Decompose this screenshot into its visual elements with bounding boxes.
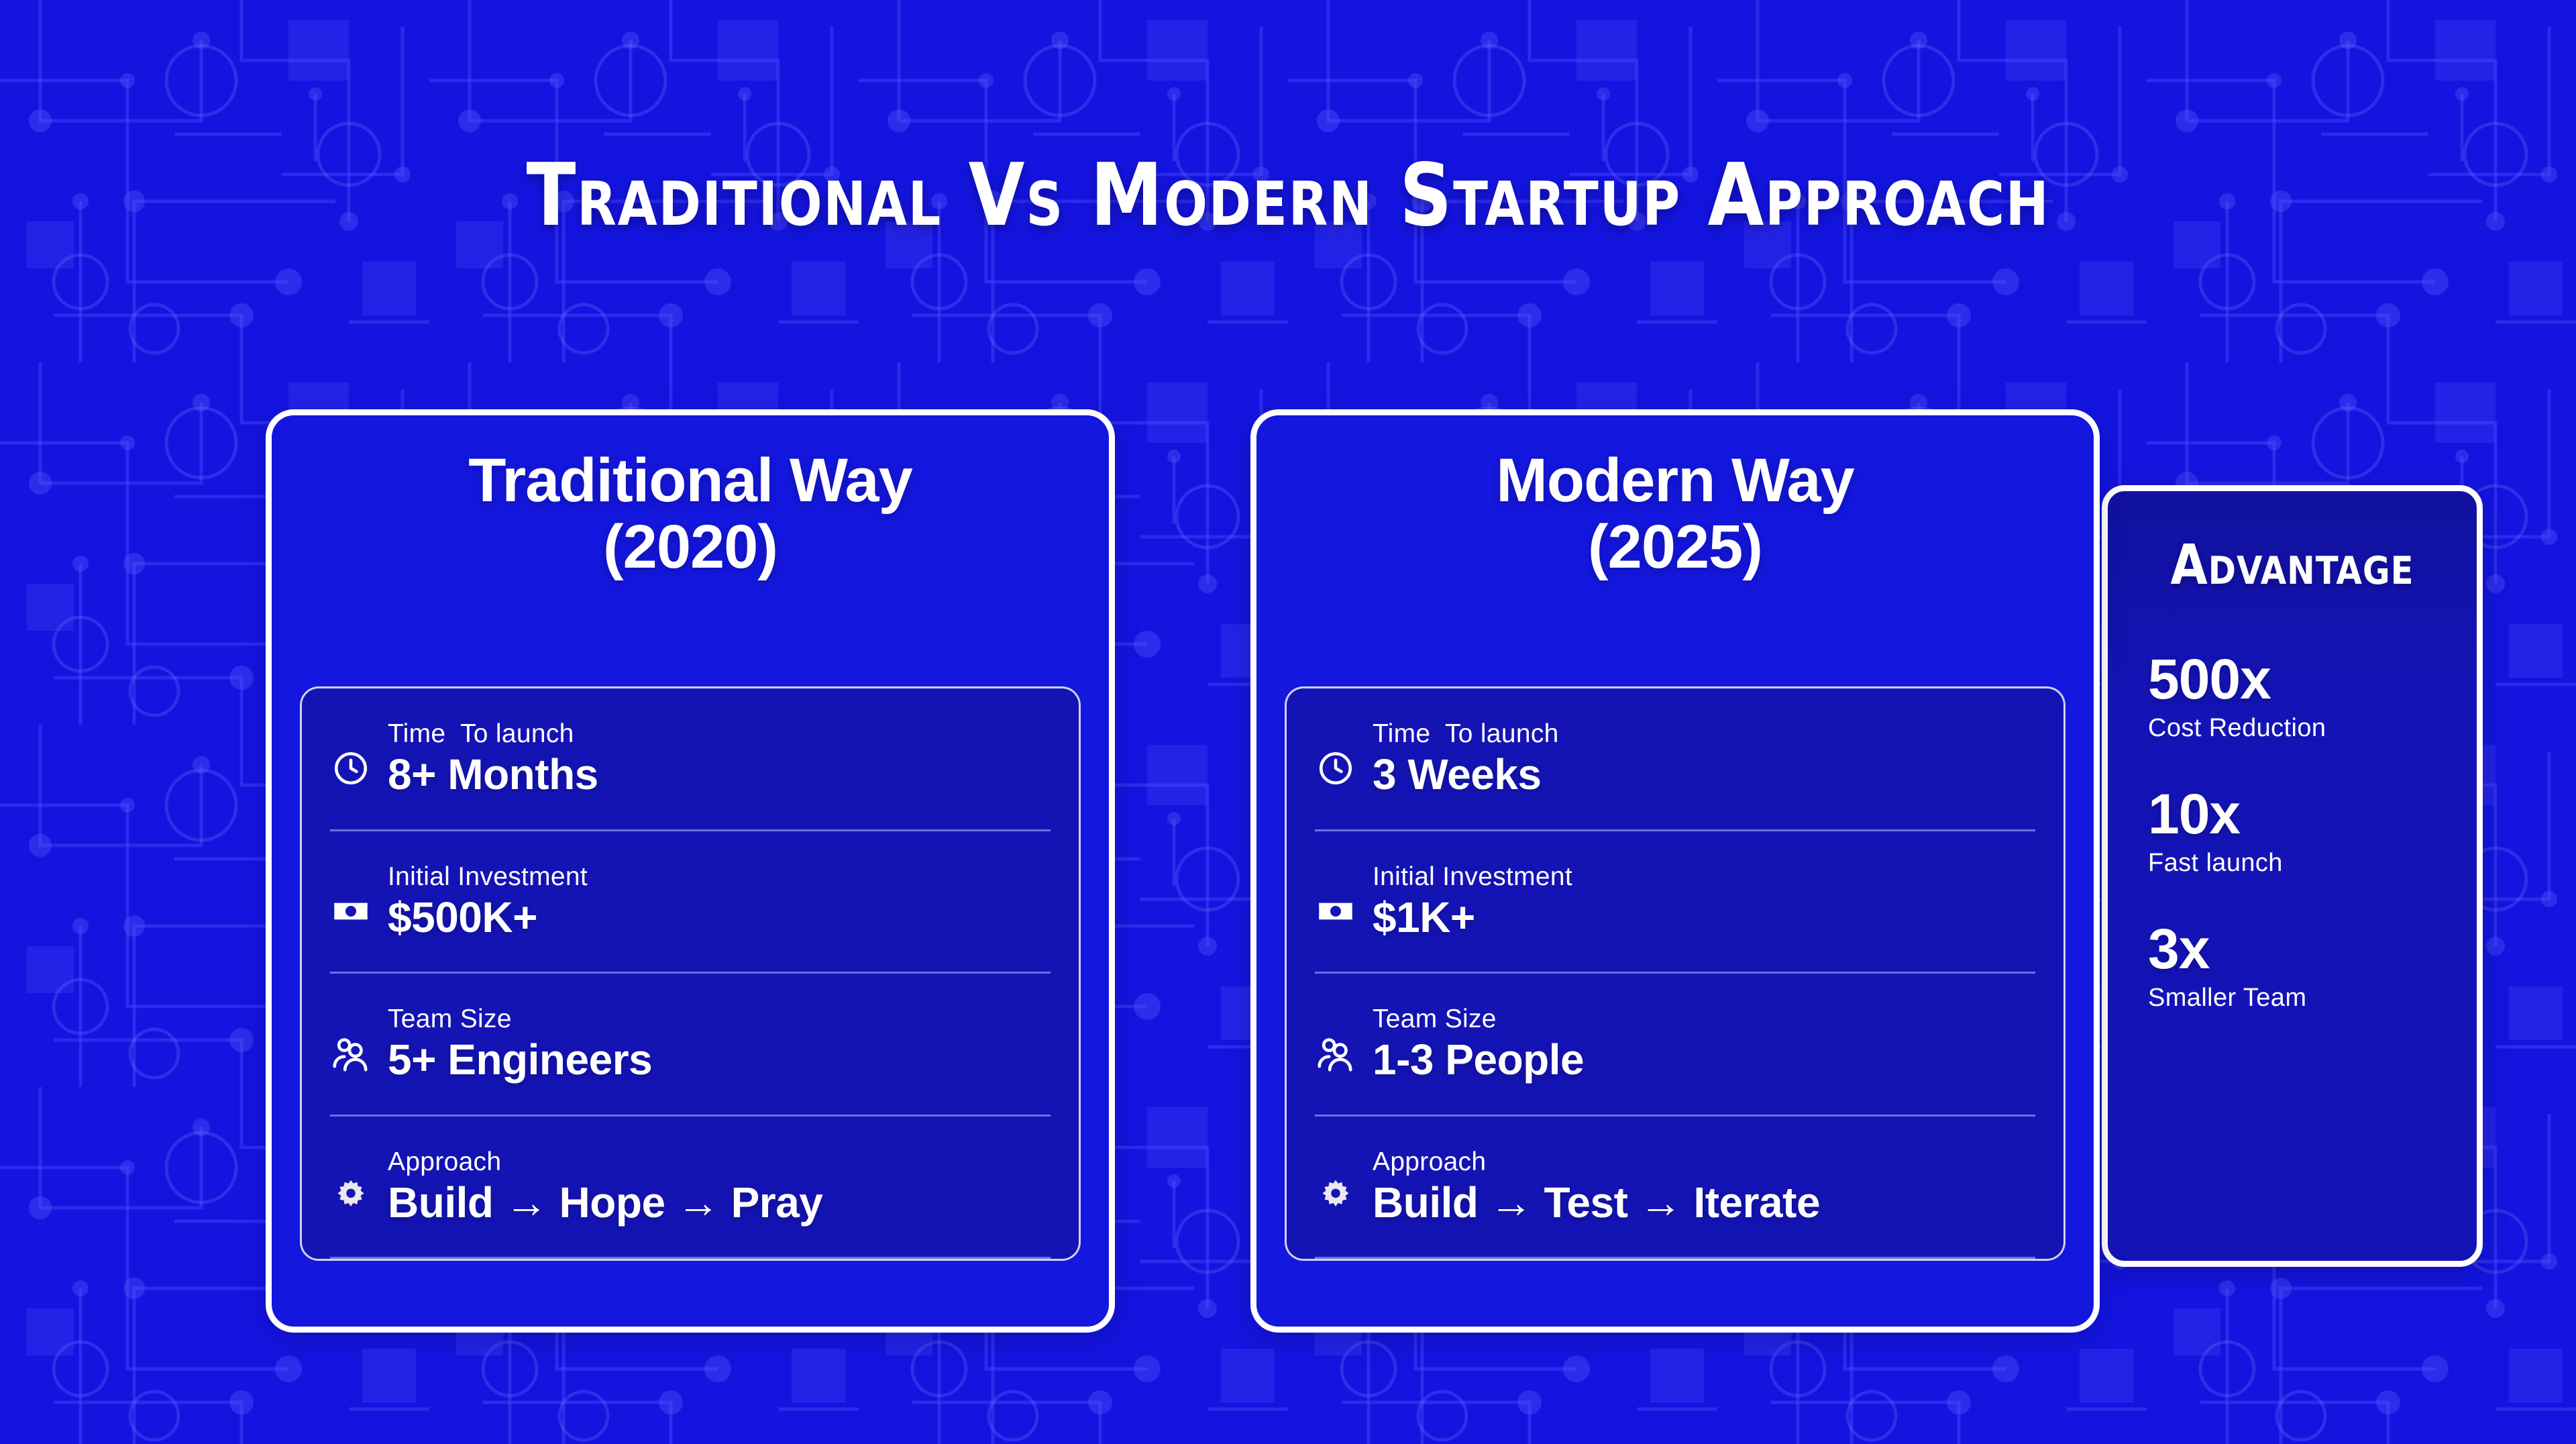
modern-metrics-panel: Time To launch 3 Weeks Initial Investmen… [1285,686,2065,1261]
banknote-icon [1311,886,1360,936]
metric-value: 3 Weeks [1373,750,1559,800]
metric-text: Initial Investment $1K+ [1373,862,1572,943]
metric-text: Team Size 5+ Engineers [388,1004,652,1085]
traditional-way-card: Traditional Way (2020) Time To launch 8+… [266,409,1115,1333]
people-icon [1311,1029,1360,1078]
advantage-item: 500x Cost Reduction [2148,651,2477,743]
modern-heading-year: (2025) [1256,514,2094,580]
metric-label: Approach [388,1147,822,1177]
traditional-heading-text: Traditional Way [468,446,912,515]
metric-label: Initial Investment [388,862,588,892]
advantage-caption: Smaller Team [2148,984,2477,1013]
metric-row-team: Team Size 1-3 People [1305,974,2045,1117]
traditional-heading-year: (2020) [272,514,1109,580]
advantage-number: 500x [2148,651,2477,707]
advantage-title: Advantage [2113,518,2471,593]
traditional-card-heading: Traditional Way (2020) [272,415,1109,581]
metric-label: Team Size [1373,1004,1584,1034]
metric-text: Team Size 1-3 People [1373,1004,1584,1085]
clock-icon [1311,743,1360,793]
metric-row-investment: Initial Investment $1K+ [1305,831,2045,974]
metric-text: Approach Build → Test → Iterate [1373,1147,1820,1228]
metric-row-time: Time To launch 8+ Months [321,688,1060,831]
metric-text: Time To launch 3 Weeks [1373,719,1559,800]
advantage-caption: Cost Reduction [2148,714,2477,743]
infographic-canvas: Traditional Vs Modern Startup Approach A… [0,0,2576,1444]
metric-row-time: Time To launch 3 Weeks [1305,688,2045,831]
metric-value: 1-3 People [1373,1035,1584,1085]
modern-heading-text: Modern Way [1496,446,1854,515]
advantage-item: 10x Fast launch [2148,786,2477,878]
metric-value: Build → Hope → Pray [388,1178,822,1228]
traditional-metrics-panel: Time To launch 8+ Months Initial Investm… [300,686,1081,1261]
metric-row-approach: Approach Build → Hope → Pray [321,1117,1060,1259]
metric-text: Initial Investment $500K+ [388,862,588,943]
metric-value: $1K+ [1373,893,1572,943]
metric-value: 8+ Months [388,750,598,800]
metric-text: Approach Build → Hope → Pray [388,1147,822,1228]
modern-card-heading: Modern Way (2025) [1256,415,2094,581]
metric-label: Time To launch [1373,719,1559,749]
metric-value: $500K+ [388,893,588,943]
advantage-caption: Fast launch [2148,849,2477,878]
metric-row-team: Team Size 5+ Engineers [321,974,1060,1117]
advantage-list: 500x Cost Reduction 10x Fast launch 3x S… [2108,651,2477,1013]
advantage-item: 3x Smaller Team [2148,921,2477,1013]
advantage-panel: Advantage 500x Cost Reduction 10x Fast l… [2102,485,2483,1267]
page-title: Traditional Vs Modern Startup Approach [77,153,2499,239]
people-icon [326,1029,376,1078]
gear-icon [1311,1172,1360,1221]
gear-icon [326,1172,376,1221]
metric-label: Approach [1373,1147,1820,1177]
advantage-number: 3x [2148,921,2477,977]
metric-label: Initial Investment [1373,862,1572,892]
metric-label: Team Size [388,1004,652,1034]
metric-row-approach: Approach Build → Test → Iterate [1305,1117,2045,1259]
advantage-number: 10x [2148,786,2477,842]
banknote-icon [326,886,376,936]
metric-text: Time To launch 8+ Months [388,719,598,800]
modern-way-card: Modern Way (2025) Time To launch 3 Weeks [1250,409,2100,1333]
metric-row-investment: Initial Investment $500K+ [321,831,1060,974]
clock-icon [326,743,376,793]
metric-value: Build → Test → Iterate [1373,1178,1820,1228]
metric-value: 5+ Engineers [388,1035,652,1085]
metric-label: Time To launch [388,719,598,749]
